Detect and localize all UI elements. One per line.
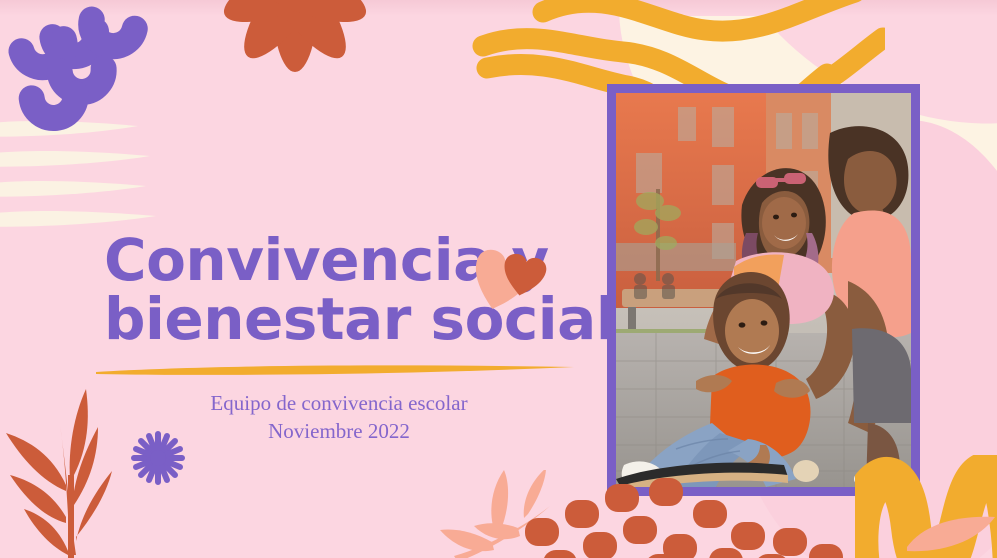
title-underline	[96, 364, 576, 377]
hero-photo	[616, 93, 911, 487]
purple-crescent-cluster	[0, 0, 200, 155]
title-slide: Convivencia y bienestar social Equipo de…	[0, 0, 997, 558]
subtitle-line-1: Equipo de convivencia escolar	[104, 390, 574, 418]
hero-photo-frame	[607, 84, 920, 496]
heart-icons	[460, 248, 580, 333]
salmon-leaf-corner	[907, 513, 997, 558]
orange-flower-icon	[185, 0, 405, 115]
orange-fern-branch	[0, 355, 144, 558]
purple-starburst-icon	[128, 428, 188, 493]
orange-dot-grid	[525, 478, 855, 558]
